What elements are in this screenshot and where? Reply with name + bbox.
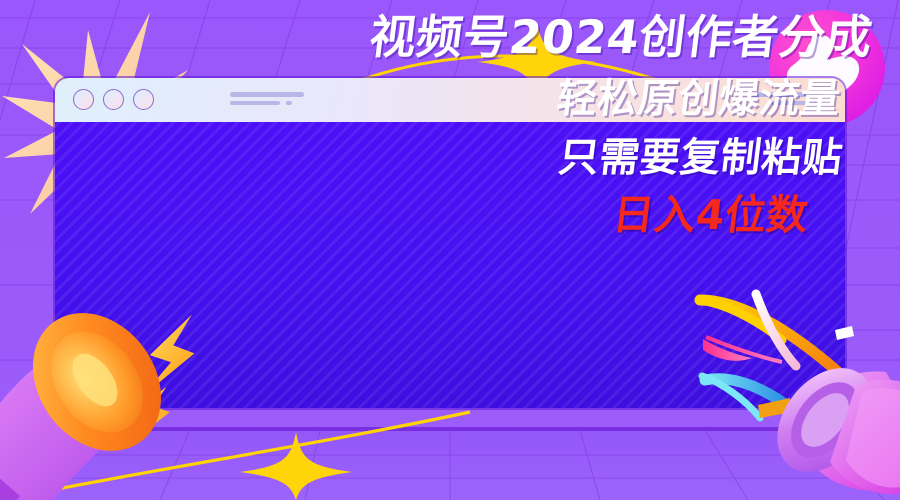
party-popper-icon <box>758 350 900 495</box>
confetti-piece <box>835 326 854 340</box>
confetti-ribbon <box>700 300 838 372</box>
promo-banner: 视频号2024创作者分成 轻松原创爆流量 只需要复制粘贴 日入4位数 <box>0 0 900 500</box>
party-popper-group <box>0 0 900 500</box>
